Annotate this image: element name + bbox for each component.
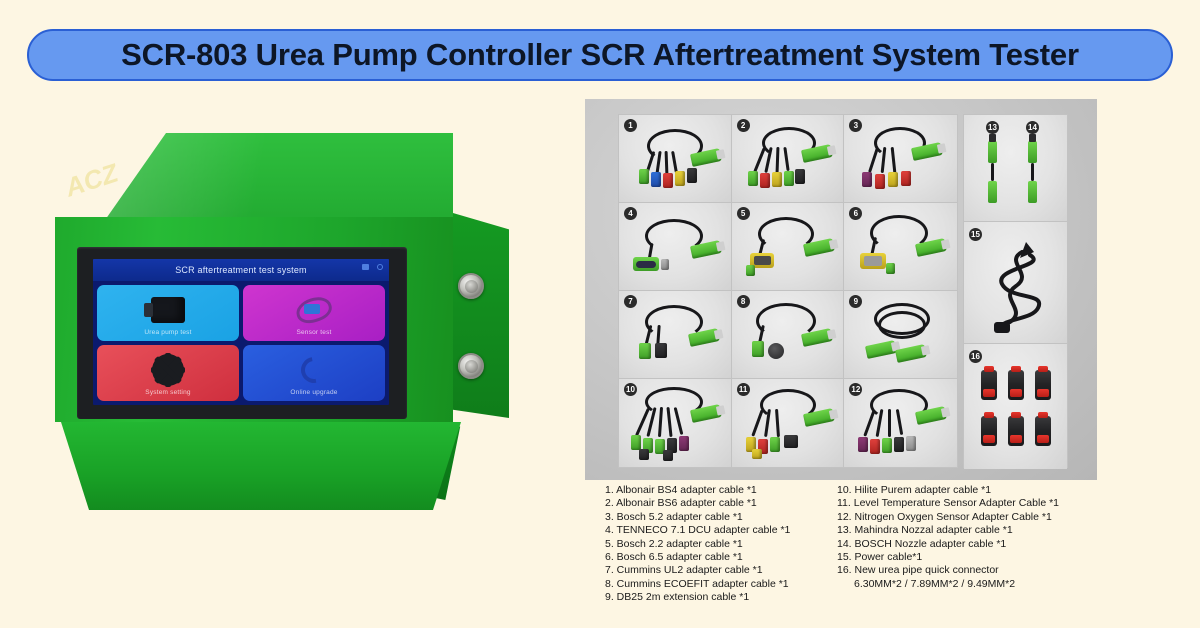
list-item-sub: 6.30MM*2 / 7.89MM*2 / 9.49MM*2 xyxy=(837,578,1059,591)
list-item: 16. New urea pipe quick connector xyxy=(837,564,1059,577)
page-title: SCR-803 Urea Pump Controller SCR Aftertr… xyxy=(121,37,1079,73)
gear-icon xyxy=(155,357,181,383)
list-item: 4. TENNECO 7.1 DCU adapter cable *1 xyxy=(605,524,790,537)
accessory-cell-3: 3 xyxy=(844,115,957,203)
device-right-face xyxy=(453,213,509,418)
quick-connectors-art xyxy=(964,344,1067,469)
item-badge: 11 xyxy=(737,383,750,396)
watermark: ACZ xyxy=(62,158,122,204)
page-root: SCR-803 Urea Pump Controller SCR Aftertr… xyxy=(0,0,1200,628)
item-badge: 5 xyxy=(737,207,750,220)
list-item: 12. Nitrogen Oxygen Sensor Adapter Cable… xyxy=(837,511,1059,524)
accessory-cell-16: 16 xyxy=(964,344,1067,469)
accessory-cell-1: 1 xyxy=(619,115,732,203)
tile-sensor-test[interactable]: Sensor test xyxy=(243,285,385,341)
list-item: 11. Level Temperature Sensor Adapter Cab… xyxy=(837,497,1059,510)
accessory-cell-11: 11 xyxy=(732,379,845,467)
accessory-cell-5: 5 xyxy=(732,203,845,291)
cable-art xyxy=(964,115,1067,221)
list-item: 14. BOSCH Nozzle adapter cable *1 xyxy=(837,538,1059,551)
item-badge: 8 xyxy=(737,295,750,308)
tile-label: Online upgrade xyxy=(243,389,385,396)
port-connector-lower[interactable] xyxy=(458,353,484,379)
accessory-cell-13-14: 13 14 xyxy=(964,115,1067,222)
list-item: 3. Bosch 5.2 adapter cable *1 xyxy=(605,511,790,524)
tile-urea-pump-test[interactable]: Urea pump test xyxy=(97,285,239,341)
power-cable-icon xyxy=(964,222,1067,344)
accessory-cell-10: 10 xyxy=(619,379,732,467)
accessories-side-column: 13 14 15 xyxy=(963,114,1068,468)
accessory-cell-6: 6 xyxy=(844,203,957,291)
lcd-screen: SCR aftertreatment test system Urea pump… xyxy=(93,259,389,405)
item-badge: 4 xyxy=(624,207,637,220)
battery-icon xyxy=(362,264,369,270)
tile-system-setting[interactable]: System setting xyxy=(97,345,239,401)
list-item: 10. Hilite Purem adapter cable *1 xyxy=(837,484,1059,497)
accessory-cell-12: 12 xyxy=(844,379,957,467)
item-badge: 13 xyxy=(986,121,999,134)
page-title-banner: SCR-803 Urea Pump Controller SCR Aftertr… xyxy=(27,29,1173,81)
pump-icon xyxy=(151,297,185,323)
sensor-icon xyxy=(296,298,332,322)
parts-list-left-column: 1. Albonair BS4 adapter cable *1 2. Albo… xyxy=(605,484,790,605)
item-badge: 2 xyxy=(737,119,750,132)
device-base-lip xyxy=(61,422,461,510)
list-item: 1. Albonair BS4 adapter cable *1 xyxy=(605,484,790,497)
item-badge: 14 xyxy=(1026,121,1039,134)
clock-icon xyxy=(377,264,383,270)
parts-list: 1. Albonair BS4 adapter cable *1 2. Albo… xyxy=(585,484,1097,604)
lcd-menu-grid: Urea pump test Sensor test xyxy=(93,281,389,405)
product-photo-device: ACZ ACZ ACZ ACZ SCR aftertreatment test … xyxy=(55,105,525,580)
accessory-cell-4: 4 xyxy=(619,203,732,291)
refresh-icon xyxy=(296,352,332,388)
item-badge: 15 xyxy=(969,228,982,241)
parts-list-right-column: 10. Hilite Purem adapter cable *1 11. Le… xyxy=(837,484,1059,591)
port-connector-upper[interactable] xyxy=(458,273,484,299)
list-item: 5. Bosch 2.2 adapter cable *1 xyxy=(605,538,790,551)
list-item: 8. Cummins ECOEFIT adapter cable *1 xyxy=(605,578,790,591)
accessory-cell-8: 8 xyxy=(732,291,845,379)
tile-label: System setting xyxy=(97,389,239,396)
lcd-title: SCR aftertreatment test system xyxy=(175,265,307,275)
accessory-cell-9: 9 xyxy=(844,291,957,379)
screen-bezel: SCR aftertreatment test system Urea pump… xyxy=(77,247,407,419)
list-item: 7. Cummins UL2 adapter cable *1 xyxy=(605,564,790,577)
list-item: 9. DB25 2m extension cable *1 xyxy=(605,591,790,604)
list-item: 13. Mahindra Nozzal adapter cable *1 xyxy=(837,524,1059,537)
accessory-cell-15: 15 xyxy=(964,222,1067,344)
lcd-title-bar: SCR aftertreatment test system xyxy=(93,259,389,281)
list-item: 2. Albonair BS6 adapter cable *1 xyxy=(605,497,790,510)
device-top-face xyxy=(103,133,453,223)
power-cable-art xyxy=(964,222,1067,343)
list-item: 15. Power cable*1 xyxy=(837,551,1059,564)
tile-label: Urea pump test xyxy=(97,329,239,336)
lcd-status-area xyxy=(362,264,383,270)
item-badge: 1 xyxy=(624,119,637,132)
accessories-panel: 1 2 xyxy=(585,99,1097,480)
tile-online-upgrade[interactable]: Online upgrade xyxy=(243,345,385,401)
item-badge: 10 xyxy=(624,383,637,396)
list-item: 6. Bosch 6.5 adapter cable *1 xyxy=(605,551,790,564)
accessories-main-grid: 1 2 xyxy=(618,114,958,468)
accessory-cell-7: 7 xyxy=(619,291,732,379)
item-badge: 16 xyxy=(969,350,982,363)
accessory-cell-2: 2 xyxy=(732,115,845,203)
tile-label: Sensor test xyxy=(243,329,385,336)
item-badge: 7 xyxy=(624,295,637,308)
